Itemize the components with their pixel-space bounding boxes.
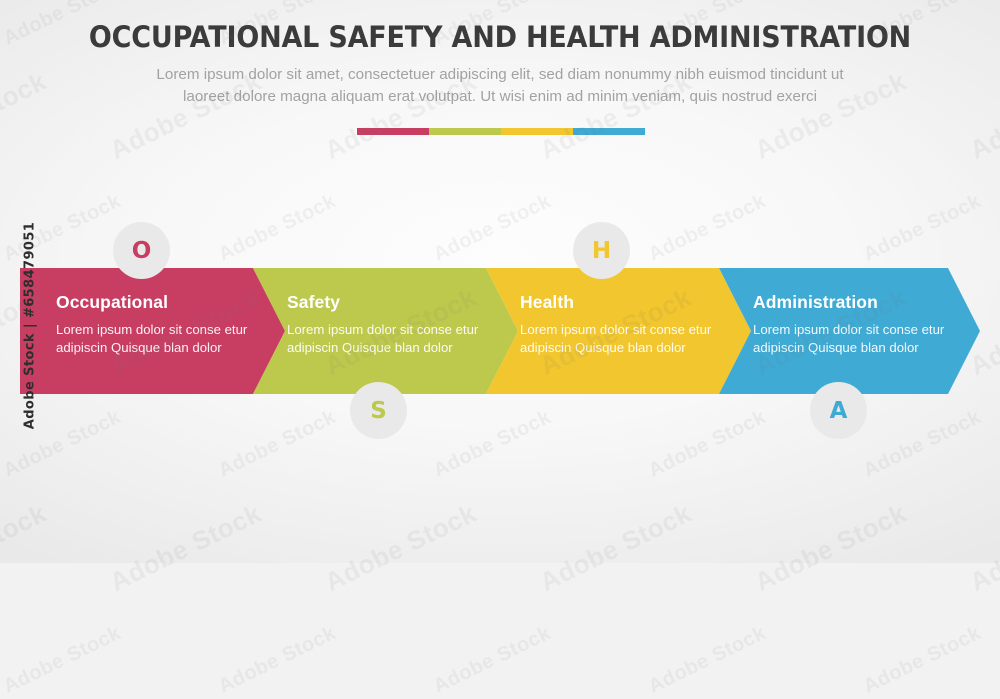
watermark-tile: Adobe Stock [215,190,340,267]
step-badge-letter-a: A [830,398,848,424]
watermark-tile: Adobe Stock [0,190,125,267]
watermark-tile: Adobe Stock [860,406,985,483]
page-title: OCCUPATIONAL SAFETY AND HEALTH ADMINISTR… [35,22,965,53]
process-step-health[interactable]: Health Lorem ipsum dolor sit conse etur … [486,268,751,394]
watermark-tile: Adobe Stock [0,498,51,598]
watermark-tile: Adobe Stock [535,498,696,598]
step-title-administration: Administration [753,294,980,312]
watermark-tile: Adobe Stock [645,622,770,699]
watermark-tile: Adobe Stock [430,622,555,699]
watermark-tile: Adobe Stock [860,622,985,699]
step-title-health: Health [520,294,751,312]
divider-segment-green [429,128,501,135]
subtitle-line-2: laoreet dolore magna aliquam erat volutp… [70,86,930,108]
header: OCCUPATIONAL SAFETY AND HEALTH ADMINISTR… [0,22,1000,108]
process-step-occupational[interactable]: Occupational Lorem ipsum dolor sit conse… [20,268,285,394]
watermark-tile: Adobe Stock [0,622,125,699]
watermark-tile: Adobe Stock [430,406,555,483]
watermark-tile: Adobe Stock [645,406,770,483]
watermark-tile: Adobe Stock [965,498,1000,598]
divider-segment-crimson [357,128,429,135]
process-step-administration[interactable]: Administration Lorem ipsum dolor sit con… [719,268,980,394]
watermark-tile: Adobe Stock [320,498,481,598]
step-badge-s[interactable]: S [350,382,407,439]
infographic-canvas: Adobe StockAdobe StockAdobe StockAdobe S… [0,0,1000,563]
step-badge-h[interactable]: H [573,222,630,279]
step-description-health: Lorem ipsum dolor sit conse etur adipisc… [520,321,716,358]
divider-segment-blue [573,128,645,135]
step-badge-letter-h: H [592,238,611,264]
watermark-tile: Adobe Stock [645,190,770,267]
process-step-safety[interactable]: Safety Lorem ipsum dolor sit conse etur … [253,268,518,394]
step-description-safety: Lorem ipsum dolor sit conse etur adipisc… [287,321,483,358]
watermark-tile: Adobe Stock [430,190,555,267]
divider-segment-yellow [501,128,573,135]
step-title-safety: Safety [287,294,518,312]
step-description-administration: Lorem ipsum dolor sit conse etur adipisc… [753,321,949,358]
step-badge-letter-s: S [370,398,387,424]
process-arrow-band: Occupational Lorem ipsum dolor sit conse… [20,268,980,394]
watermark-tile: Adobe Stock [750,498,911,598]
page-subtitle: Lorem ipsum dolor sit amet, consectetuer… [70,64,930,108]
step-badge-o[interactable]: O [113,222,170,279]
color-divider [357,128,645,135]
watermark-tile: Adobe Stock [860,190,985,267]
step-description-occupational: Lorem ipsum dolor sit conse etur adipisc… [56,321,252,358]
watermark-tile: Adobe Stock [105,498,266,598]
watermark-tile: Adobe Stock [215,622,340,699]
subtitle-line-1: Lorem ipsum dolor sit amet, consectetuer… [70,64,930,86]
step-title-occupational: Occupational [56,294,285,312]
watermark-tile: Adobe Stock [0,406,125,483]
step-badge-a[interactable]: A [810,382,867,439]
watermark-tile: Adobe Stock [215,406,340,483]
step-badge-letter-o: O [132,238,152,264]
